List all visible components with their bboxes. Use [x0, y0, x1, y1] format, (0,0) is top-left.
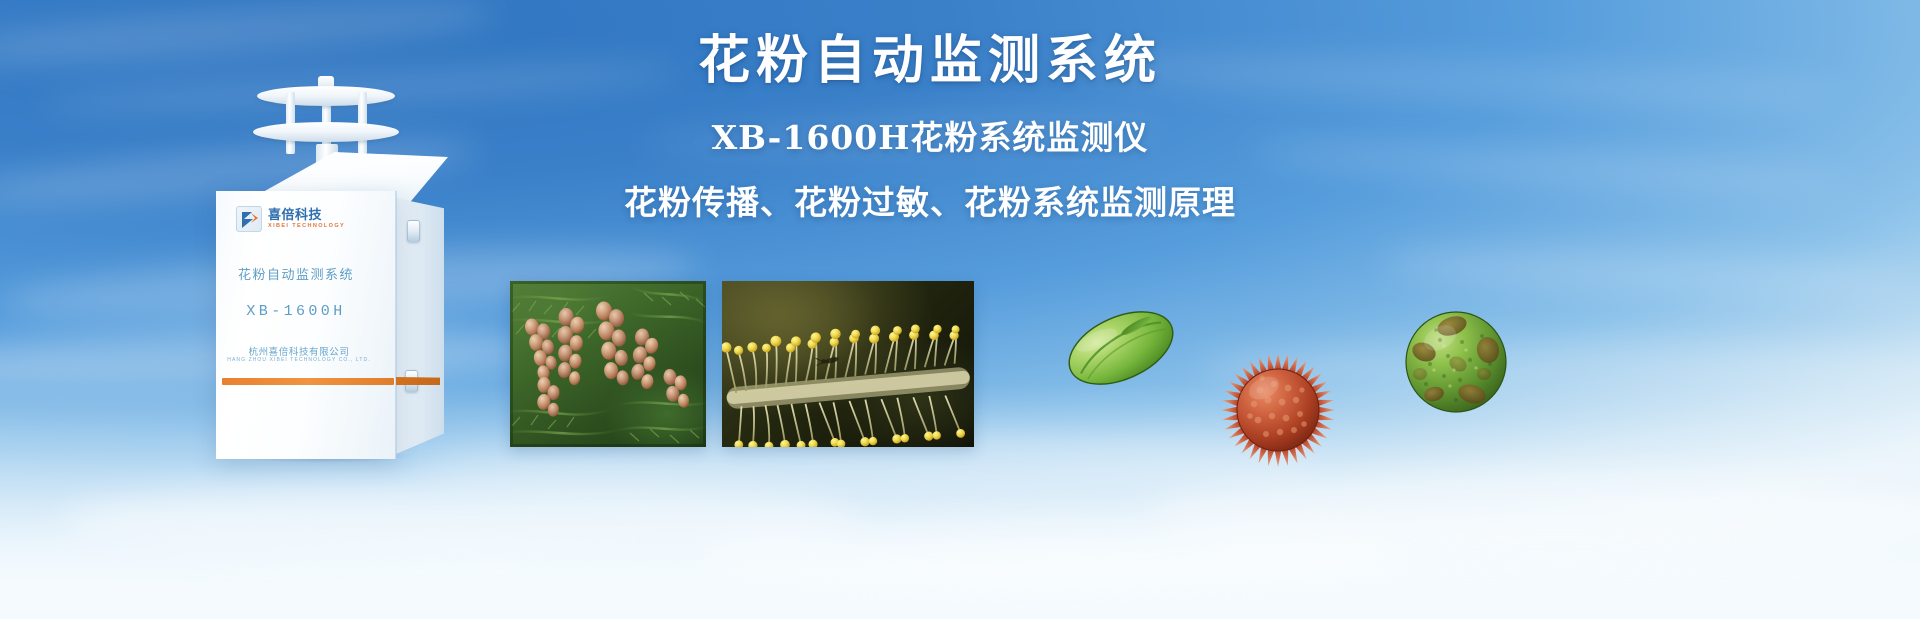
brand-logo-text: 喜倍科技 XIBEI TECHNOLOGY [268, 209, 345, 230]
brand-name-en: XIBEI TECHNOLOGY [268, 224, 345, 230]
device-model: XB-1600H [196, 303, 396, 320]
device-product-name: 花粉自动监测系统 [196, 264, 396, 283]
cedar-male-cones-photo [510, 281, 706, 447]
xibei-logo-icon [236, 206, 262, 232]
brand-logo: 喜倍科技 XIBEI TECHNOLOGY [236, 206, 345, 232]
pollen-grain-rough-illustration [1400, 306, 1512, 418]
pollen-monitor-device: 喜倍科技 XIBEI TECHNOLOGY 花粉自动监测系统 XB-1600H … [196, 78, 464, 430]
panel-latch-icon [407, 220, 420, 242]
headline-group: 花粉自动监测系统 XB-1600H花粉系统监测仪 花粉传播、花粉过敏、花粉系统监… [560, 30, 1300, 224]
shield-disc-upper [257, 86, 395, 106]
tagline: 花粉传播、花粉过敏、花粉系统监测原理 [560, 182, 1300, 224]
brand-name-cn: 喜倍科技 [268, 209, 345, 222]
rain-shield-head [256, 78, 396, 158]
page-title: 花粉自动监测系统 [560, 30, 1300, 92]
device-side-face [396, 198, 444, 454]
device-company-en: HANG ZHOU XIBEI TECHNOLOGY CO., LTD. [196, 357, 402, 363]
pollen-grain-spiky-illustration [1218, 350, 1338, 470]
product-subtitle: XB-1600H花粉系统监测仪 [560, 118, 1300, 158]
pollen-grain-oval-illustration [1062, 305, 1180, 391]
willow-catkin-photo [722, 281, 974, 447]
pollen-monitoring-banner: 花粉自动监测系统 XB-1600H花粉系统监测仪 花粉传播、花粉过敏、花粉系统监… [0, 0, 1920, 619]
accent-stripe [222, 378, 394, 385]
shield-disc-lower [253, 122, 399, 142]
device-company-cn: 杭州喜倍科技有限公司 [196, 344, 402, 358]
accent-stripe-side [396, 377, 440, 385]
device-corner-edge [395, 191, 397, 459]
